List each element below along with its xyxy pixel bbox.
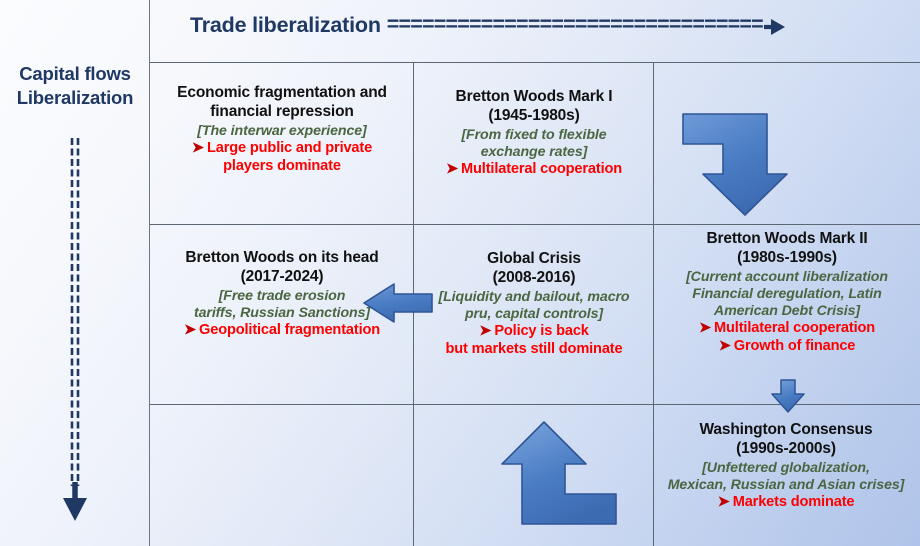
cell-note: [Liquidity and bailout, macro pru, capit… — [424, 289, 644, 323]
bullet-marker-icon: ➤ — [718, 494, 730, 510]
cell-empty-row3-col1 — [153, 410, 411, 544]
trade-liberalization-axis-text: Trade liberalization — [190, 13, 381, 38]
cell-title: Economic fragmentation and financial rep… — [161, 84, 403, 122]
bullet-marker-icon: ➤ — [479, 323, 491, 339]
cell-bretton-woods-mark-ii: Bretton Woods Mark II (1980s-1990s) [Cur… — [656, 230, 918, 356]
cell-washington-consensus: Washington Consensus (1990s-2000s) [Unfe… — [652, 421, 920, 512]
axis-connector-dashes: ================================ — [387, 14, 763, 36]
cell-bullet: ➤Markets dominate — [660, 494, 912, 512]
trade-liberalization-axis: Trade liberalization ===================… — [150, 0, 920, 62]
bullet-marker-icon: ➤ — [719, 338, 731, 354]
grid-row-divider-1 — [150, 224, 920, 225]
cell-bullet: ➤Large public and private players domina… — [161, 140, 403, 176]
elbow-arrow-up-icon — [500, 420, 640, 530]
cell-bullet: ➤Policy is back but markets still domina… — [424, 323, 644, 359]
cell-note: [From fixed to flexible exchange rates] — [424, 127, 644, 161]
cell-bretton-woods-mark-i: Bretton Woods Mark I (1945-1980s) [From … — [416, 88, 652, 179]
cell-note: [The interwar experience] — [161, 123, 403, 140]
bullet-marker-icon: ➤ — [184, 322, 196, 338]
trade-liberalization-axis-label: Trade liberalization ===================… — [190, 13, 786, 38]
bullet-marker-icon: ➤ — [699, 320, 711, 336]
diagram-canvas: Capital flows Liberalization Trade liber… — [0, 0, 920, 546]
bullet-marker-icon: ➤ — [192, 140, 204, 156]
cell-global-crisis: Global Crisis (2008-2016) [Liquidity and… — [416, 250, 652, 358]
capital-flows-axis-label-line2: Liberalization — [0, 86, 150, 110]
cell-years: (2008-2016) — [424, 269, 644, 288]
cell-note: [Unfettered globalization, Mexican, Russ… — [660, 460, 912, 494]
cell-note: [Current account liberalization Financia… — [664, 269, 910, 320]
bullet-marker-icon: ➤ — [446, 161, 458, 177]
right-arrow-icon — [764, 17, 786, 37]
cell-title: Bretton Woods Mark II — [664, 230, 910, 249]
cell-title: Global Crisis — [424, 250, 644, 269]
cell-bullet: ➤Multilateral cooperation — [424, 161, 644, 179]
cell-title: Washington Consensus — [660, 421, 912, 440]
cell-economic-fragmentation: Economic fragmentation and financial rep… — [153, 84, 411, 175]
elbow-arrow-down-icon — [681, 112, 816, 217]
capital-flows-axis-label: Capital flows Liberalization — [0, 62, 150, 110]
header-divider — [150, 62, 920, 63]
cell-bullet: ➤Multilateral cooperation ➤Growth of fin… — [664, 320, 910, 356]
cell-years: (1990s-2000s) — [660, 440, 912, 459]
capital-flows-axis-label-line1: Capital flows — [19, 63, 131, 84]
capital-flows-axis: Capital flows Liberalization — [0, 0, 150, 546]
down-arrow-icon — [55, 138, 95, 523]
cell-years: (1945-1980s) — [424, 107, 644, 126]
cell-title: Bretton Woods on its head — [161, 249, 403, 268]
cell-title: Bretton Woods Mark I — [424, 88, 644, 107]
cell-years: (1980s-1990s) — [664, 249, 910, 268]
down-arrow-icon — [770, 378, 806, 414]
